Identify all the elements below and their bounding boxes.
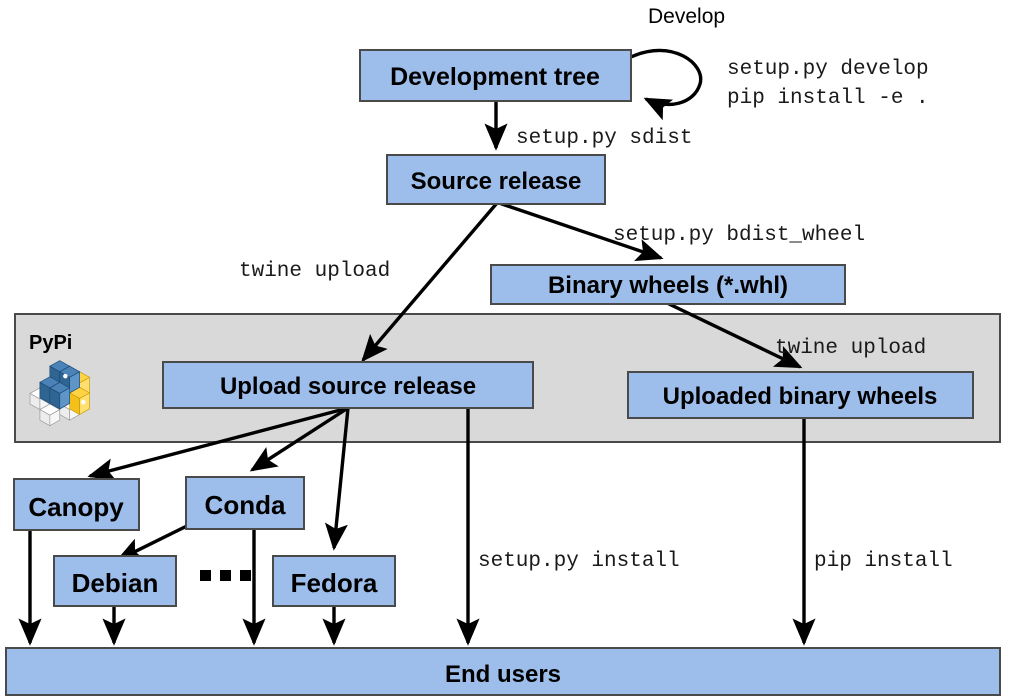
node-fedora-label: Fedora bbox=[291, 568, 378, 598]
node-development-tree-label: Development tree bbox=[390, 63, 600, 91]
edge-label-setup-py-bdist-wheel: setup.py bdist_wheel bbox=[613, 224, 865, 247]
node-upload-source-release-label: Upload source release bbox=[220, 373, 476, 400]
diagram-svg: Development tree Source release Binary w… bbox=[0, 0, 1009, 698]
pypi-group-label: PyPi bbox=[29, 332, 72, 354]
edge-label-twine-upload-wheels: twine upload bbox=[775, 337, 926, 360]
edge-label-develop: Develop bbox=[648, 5, 725, 28]
edge-label-pip-install: pip install bbox=[814, 550, 953, 573]
edge-label-setup-py-develop: setup.py develop bbox=[727, 58, 929, 81]
node-end-users-label: End users bbox=[445, 661, 561, 688]
node-conda-label: Conda bbox=[205, 490, 286, 520]
edge-label-setup-py-install: setup.py install bbox=[478, 550, 680, 573]
edge-label-setup-py-sdist: setup.py sdist bbox=[516, 127, 692, 150]
ellipsis-icon bbox=[200, 570, 251, 581]
edge-label-pip-install-e: pip install -e . bbox=[727, 87, 929, 110]
packaging-flow-diagram: Development tree Source release Binary w… bbox=[0, 0, 1009, 698]
edge-label-twine-upload-source: twine upload bbox=[239, 260, 390, 283]
node-debian-label: Debian bbox=[72, 568, 159, 598]
node-binary-wheels-label: Binary wheels (*.whl) bbox=[548, 272, 788, 299]
node-uploaded-binary-wheels-label: Uploaded binary wheels bbox=[663, 383, 938, 410]
node-canopy-label: Canopy bbox=[28, 492, 124, 522]
edge-develop-selfloop bbox=[631, 50, 701, 104]
node-source-release-label: Source release bbox=[411, 168, 582, 195]
